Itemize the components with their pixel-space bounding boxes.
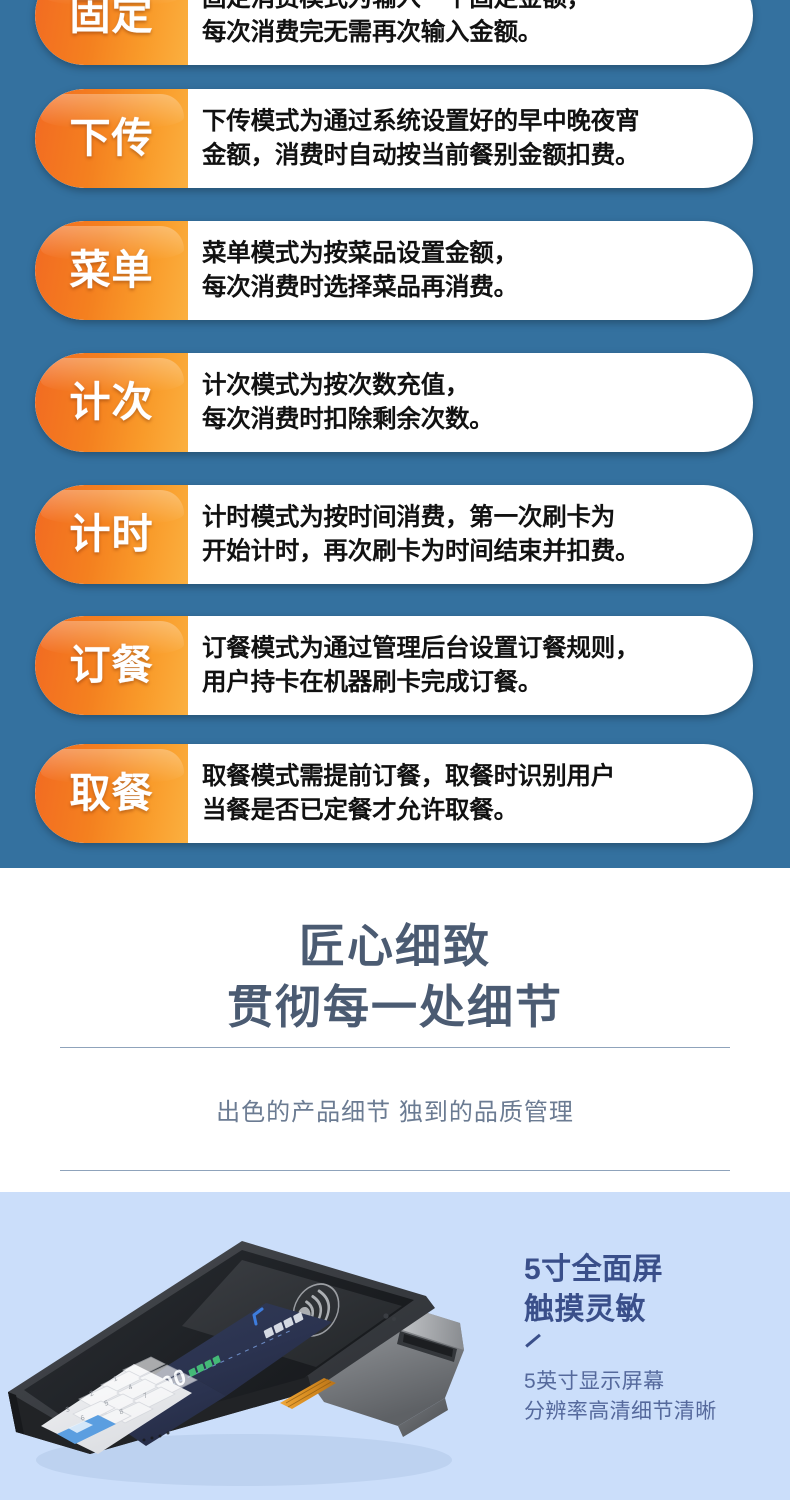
mode-row: 订餐 订餐模式为通过管理后台设置订餐规则， 用户持卡在机器刷卡完成订餐。 [35, 616, 753, 715]
craft-heading-line-1: 匠心细致 [299, 920, 491, 972]
display-feature-copy: 5寸全面屏 触摸灵敏 5英寸显示屏幕 分辨率高清细节清晰 [524, 1250, 774, 1427]
mode-badge: 计时 [35, 485, 188, 584]
mode-card: 计时 计时模式为按时间消费，第一次刷卡为 开始计时，再次刷卡为时间结束并扣费。 [35, 485, 753, 584]
display-feature-title-line-1: 5寸全面屏 [524, 1253, 663, 1286]
mode-description: 下传模式为通过系统设置好的早中晚夜宵 金额，消费时自动按当前餐别金额扣费。 [188, 89, 753, 188]
mode-card: 菜单 菜单模式为按菜品设置金额， 每次消费时选择菜品再消费。 [35, 221, 753, 320]
mode-badge-label: 订餐 [70, 645, 154, 686]
mode-description-line-1: 菜单模式为按菜品设置金额， [202, 237, 731, 271]
display-feature-title: 5寸全面屏 触摸灵敏 [524, 1250, 774, 1329]
mode-description-line-1: 取餐模式需提前订餐，取餐时识别用户 [202, 760, 731, 794]
mode-card: 订餐 订餐模式为通过管理后台设置订餐规则， 用户持卡在机器刷卡完成订餐。 [35, 616, 753, 715]
mode-badge: 计次 [35, 353, 188, 452]
mode-description-line-2: 当餐是否已定餐才允许取餐。 [202, 794, 731, 828]
mode-description-line-2: 用户持卡在机器刷卡完成订餐。 [202, 666, 731, 700]
mode-badge: 菜单 [35, 221, 188, 320]
mode-badge-label: 取餐 [70, 773, 154, 814]
mode-description-line-1: 计次模式为按次数充值， [202, 369, 731, 403]
mode-row: 菜单 菜单模式为按菜品设置金额， 每次消费时选择菜品再消费。 [35, 221, 753, 320]
craft-heading-line-2: 贯彻每一处细节 [0, 977, 790, 1038]
mode-badge: 订餐 [35, 616, 188, 715]
mode-description-line-1: 固定消费模式为输入一个固定金额， [202, 0, 731, 16]
display-feature-subtitle: 5英寸显示屏幕 分辨率高清细节清晰 [524, 1367, 774, 1427]
mode-badge: 固定 [35, 0, 188, 65]
mode-description-line-1: 订餐模式为通过管理后台设置订餐规则， [202, 632, 731, 666]
mode-badge-label: 菜单 [70, 250, 154, 291]
divider-top [60, 1047, 730, 1048]
mode-row: 计次 计次模式为按次数充值， 每次消费时扣除剩余次数。 [35, 353, 753, 452]
mode-card: 下传 下传模式为通过系统设置好的早中晚夜宵 金额，消费时自动按当前餐别金额扣费。 [35, 89, 753, 188]
display-feature-subtitle-line-2: 分辨率高清细节清晰 [524, 1397, 774, 1427]
mode-description: 订餐模式为通过管理后台设置订餐规则， 用户持卡在机器刷卡完成订餐。 [188, 616, 753, 715]
mode-description: 取餐模式需提前订餐，取餐时识别用户 当餐是否已定餐才允许取餐。 [188, 744, 753, 843]
mode-row: 下传 下传模式为通过系统设置好的早中晚夜宵 金额，消费时自动按当前餐别金额扣费。 [35, 89, 753, 188]
craftsmanship-section: 匠心细致 贯彻每一处细节 出色的产品细节 独到的品质管理 [0, 868, 790, 1192]
divider-bottom [60, 1170, 730, 1171]
mode-badge-label: 下传 [70, 118, 154, 159]
mode-description-line-2: 开始计时，再次刷卡为时间结束并扣费。 [202, 535, 731, 569]
mode-row: 取餐 取餐模式需提前订餐，取餐时识别用户 当餐是否已定餐才允许取餐。 [35, 744, 753, 843]
mode-description-line-2: 每次消费时扣除剩余次数。 [202, 403, 731, 437]
mode-badge-label: 计次 [70, 382, 154, 423]
craft-heading: 匠心细致 贯彻每一处细节 [0, 868, 790, 1037]
mode-card: 固定 固定消费模式为输入一个固定金额， 每次消费完无需再次输入金额。 [35, 0, 753, 65]
mode-badge: 下传 [35, 89, 188, 188]
mode-description-line-1: 下传模式为通过系统设置好的早中晚夜宵 [202, 105, 731, 139]
mode-row: 计时 计时模式为按时间消费，第一次刷卡为 开始计时，再次刷卡为时间结束并扣费。 [35, 485, 753, 584]
mode-badge-label: 计时 [70, 514, 154, 555]
mode-badge: 取餐 [35, 744, 188, 843]
mode-description-line-2: 每次消费时选择菜品再消费。 [202, 271, 731, 305]
slash-divider-icon [526, 1345, 548, 1359]
mode-description-line-1: 计时模式为按时间消费，第一次刷卡为 [202, 501, 731, 535]
mode-description: 计时模式为按时间消费，第一次刷卡为 开始计时，再次刷卡为时间结束并扣费。 [188, 485, 753, 584]
display-feature-subtitle-line-1: 5英寸显示屏幕 [524, 1370, 664, 1393]
consumption-modes-section: 固定 固定消费模式为输入一个固定金额， 每次消费完无需再次输入金额。 下传 下传… [0, 0, 790, 868]
mode-card: 计次 计次模式为按次数充值， 每次消费时扣除剩余次数。 [35, 353, 753, 452]
craft-subtitle: 出色的产品细节 独到的品质管理 [0, 1092, 790, 1127]
mode-card: 取餐 取餐模式需提前订餐，取餐时识别用户 当餐是否已定餐才允许取餐。 [35, 744, 753, 843]
mode-description: 菜单模式为按菜品设置金额， 每次消费时选择菜品再消费。 [188, 221, 753, 320]
mode-description: 计次模式为按次数充值， 每次消费时扣除剩余次数。 [188, 353, 753, 452]
mode-description-line-2: 金额，消费时自动按当前餐别金额扣费。 [202, 139, 731, 173]
mode-badge-label: 固定 [70, 0, 154, 36]
mode-row: 固定 固定消费模式为输入一个固定金额， 每次消费完无需再次输入金额。 [35, 0, 753, 65]
pos-terminal-image: 1.00 1 2 3 [0, 1192, 494, 1500]
display-feature-title-line-2: 触摸灵敏 [524, 1290, 774, 1330]
mode-description-line-2: 每次消费完无需再次输入金额。 [202, 16, 731, 50]
mode-description: 固定消费模式为输入一个固定金额， 每次消费完无需再次输入金额。 [188, 0, 753, 65]
display-feature-section: 1.00 1 2 3 [0, 1192, 790, 1500]
